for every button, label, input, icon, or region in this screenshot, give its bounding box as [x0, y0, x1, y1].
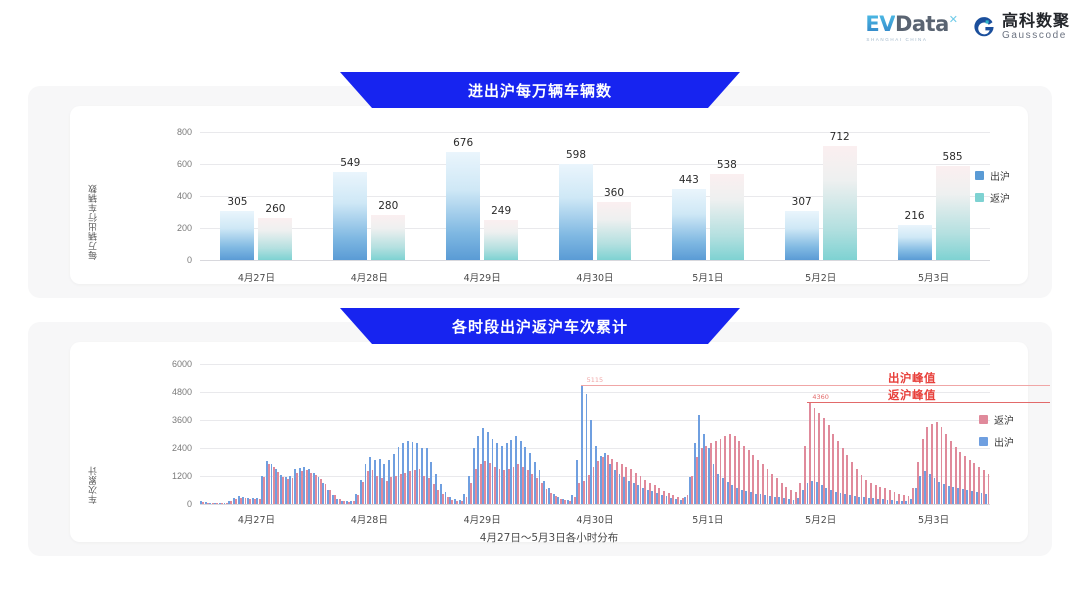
chart1-bar[interactable]: 360	[597, 202, 631, 260]
chart2-y-tick: 1200	[148, 471, 192, 481]
chart1-bar-group: 216585	[877, 132, 990, 260]
chart1-bar-value: 598	[566, 149, 586, 161]
chart2-peak-line	[581, 385, 1050, 386]
chart1-y-tick: 800	[152, 127, 192, 137]
chart2-x-tick: 5月3日	[918, 512, 949, 526]
chart2-y-tick: 2400	[148, 443, 192, 453]
chart1-bar[interactable]: 249	[484, 220, 518, 260]
chart1-legend: 出沪返沪	[975, 168, 1010, 205]
chart1-legend-item[interactable]: 返沪	[975, 190, 1010, 205]
chart1-bar[interactable]: 216	[898, 225, 932, 260]
chart2-gridline	[200, 504, 990, 505]
gausscode-logo: 高科数聚 Gausscode	[972, 13, 1070, 41]
chart2-card: 车次累计 0120024003600480060004月27日4月28日4月29…	[70, 342, 1028, 542]
chart2-y-tick: 4800	[148, 387, 192, 397]
chart1-legend-swatch	[975, 171, 984, 180]
gausscode-g-icon	[972, 15, 996, 39]
chart1-bar[interactable]: 598	[559, 164, 593, 260]
chart1-bar[interactable]: 260	[258, 218, 292, 260]
evdata-x-icon: ✕	[949, 13, 958, 26]
evdata-tagline: SHANGHAI CHINA	[865, 37, 927, 42]
chart1-y-tick: 600	[152, 159, 192, 169]
chart2-y-axis-label: 车次累计	[86, 364, 99, 504]
chart2-gridline	[200, 364, 990, 365]
chart2-x-tick: 4月28日	[351, 512, 388, 526]
chart1-bar-value: 307	[792, 196, 812, 208]
chart1-title-banner: 进出沪每万辆车辆数	[340, 72, 740, 108]
chart1-bar[interactable]: 305	[220, 211, 254, 260]
chart2-gridline	[200, 420, 990, 421]
chart2-legend: 返沪出沪	[979, 412, 1014, 449]
evdata-data-text: Data	[895, 12, 949, 36]
chart2-peak-label: 出沪峰值	[888, 370, 936, 386]
chart1-bar-value: 549	[340, 157, 360, 169]
chart1-y-tick: 200	[152, 223, 192, 233]
chart1-bar-value: 712	[830, 131, 850, 143]
evdata-ev-text: EV	[865, 12, 895, 36]
chart2-legend-swatch	[979, 415, 988, 424]
chart1-legend-label: 返沪	[990, 190, 1010, 205]
chart1-gridline	[200, 260, 990, 261]
chart2-x-axis-title: 4月27日～5月3日各小时分布	[70, 530, 1028, 545]
chart2-x-tick: 4月30日	[576, 512, 613, 526]
chart2-legend-item[interactable]: 出沪	[979, 434, 1014, 449]
chart1-x-tick: 4月28日	[351, 270, 388, 284]
chart-panel-vehicles: 进出沪每万辆车辆数 每万辆出行车辆数 02004006008003052604月…	[28, 86, 1052, 298]
chart1-bar-group: 443538	[651, 132, 764, 260]
chart2-peak-value: 5115	[587, 376, 604, 384]
chart1-bar[interactable]: 585	[936, 166, 970, 260]
chart1-x-tick: 4月27日	[238, 270, 275, 284]
chart1-bar-group: 307712	[764, 132, 877, 260]
chart1-card: 每万辆出行车辆数 02004006008003052604月27日5492804…	[70, 106, 1028, 284]
chart1-legend-label: 出沪	[990, 168, 1010, 183]
chart-panel-hourly: 各时段出沪返沪车次累计 车次累计 0120024003600480060004月…	[28, 322, 1052, 556]
chart1-plot-area: 02004006008003052604月27日5492804月28日67624…	[200, 132, 990, 260]
chart1-y-axis-label: 每万辆出行车辆数	[86, 132, 99, 260]
evdata-logo: EV Data ✕ SHANGHAI CHINA	[865, 12, 958, 42]
chart2-gridline	[200, 392, 990, 393]
chart2-x-tick: 4月29日	[464, 512, 501, 526]
chart1-bar-group: 305260	[200, 132, 313, 260]
gausscode-cn-name: 高科数聚	[1002, 13, 1070, 29]
brand-logos: EV Data ✕ SHANGHAI CHINA 高科数聚 Gausscode	[865, 12, 1070, 42]
chart2-title-banner: 各时段出沪返沪车次累计	[340, 308, 740, 344]
chart1-bar[interactable]: 280	[371, 215, 405, 260]
chart1-x-tick: 5月3日	[918, 270, 949, 284]
chart2-peak-label: 返沪峰值	[888, 387, 936, 403]
chart1-bar-value: 443	[679, 174, 699, 186]
chart1-bar-value: 305	[227, 196, 247, 208]
chart2-y-tick: 0	[148, 499, 192, 509]
chart1-x-tick: 5月2日	[805, 270, 836, 284]
chart1-bar[interactable]: 676	[446, 152, 480, 260]
chart1-x-tick: 5月1日	[692, 270, 723, 284]
chart1-bar-value: 260	[265, 203, 285, 215]
slide-root: EV Data ✕ SHANGHAI CHINA 高科数聚 Gausscode …	[0, 0, 1080, 608]
chart2-x-tick: 4月27日	[238, 512, 275, 526]
chart2-x-tick: 5月1日	[692, 512, 723, 526]
chart1-bar[interactable]: 712	[823, 146, 857, 260]
chart2-bar-back[interactable]	[988, 474, 990, 504]
chart1-legend-swatch	[975, 193, 984, 202]
chart1-bar-group: 598360	[539, 132, 652, 260]
chart1-bar-value: 585	[943, 151, 963, 163]
evdata-wordmark: EV Data ✕	[865, 12, 958, 36]
chart1-bar-value: 280	[378, 200, 398, 212]
chart2-y-tick: 6000	[148, 359, 192, 369]
chart1-bar[interactable]: 443	[672, 189, 706, 260]
chart1-x-tick: 4月30日	[576, 270, 613, 284]
chart1-bar-value: 249	[491, 205, 511, 217]
chart1-y-tick: 0	[152, 255, 192, 265]
chart1-bar[interactable]: 549	[333, 172, 367, 260]
chart1-bar-value: 538	[717, 159, 737, 171]
chart1-bar-value: 360	[604, 187, 624, 199]
gausscode-en-name: Gausscode	[1002, 31, 1070, 41]
chart2-plot-area: 0120024003600480060004月27日4月28日4月29日4月30…	[200, 364, 990, 504]
chart1-y-tick: 400	[152, 191, 192, 201]
chart1-bar-group: 676249	[426, 132, 539, 260]
chart2-legend-label: 出沪	[994, 434, 1014, 449]
chart1-bar-group: 549280	[313, 132, 426, 260]
chart2-legend-item[interactable]: 返沪	[979, 412, 1014, 427]
chart1-legend-item[interactable]: 出沪	[975, 168, 1010, 183]
chart1-bar-value: 216	[905, 210, 925, 222]
chart2-x-tick: 5月2日	[805, 512, 836, 526]
chart1-x-tick: 4月29日	[464, 270, 501, 284]
chart2-legend-label: 返沪	[994, 412, 1014, 427]
chart2-legend-swatch	[979, 437, 988, 446]
chart1-bar-value: 676	[453, 137, 473, 149]
chart1-bar[interactable]: 307	[785, 211, 819, 260]
chart1-bar[interactable]: 538	[710, 174, 744, 260]
chart2-peak-value: 4360	[812, 393, 829, 401]
chart2-y-tick: 3600	[148, 415, 192, 425]
